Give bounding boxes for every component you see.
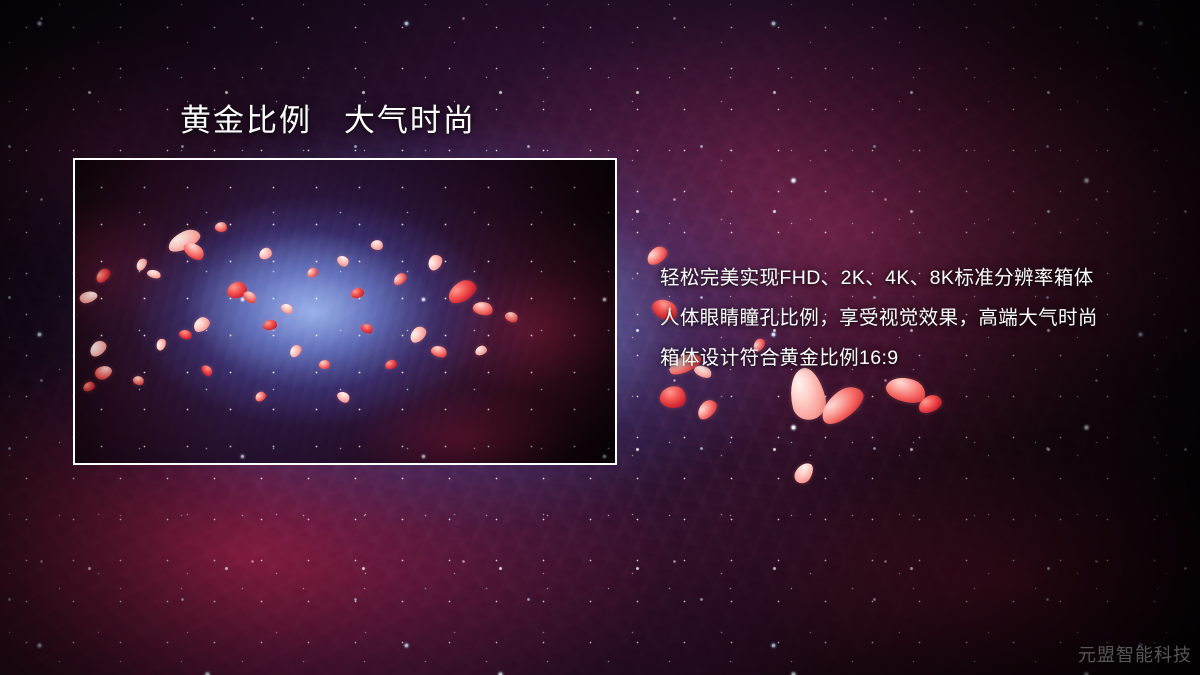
frame-vignette xyxy=(75,160,615,463)
petal xyxy=(815,380,869,429)
petal xyxy=(916,392,944,415)
petal xyxy=(694,397,720,423)
page-title: 黄金比例 大气时尚 xyxy=(180,100,476,142)
petal xyxy=(792,459,817,486)
body-line-1: 轻松完美实现FHD、2K、4K、8K标准分辨率箱体 xyxy=(660,258,1180,298)
presentation-slide: 黄金比例 大气时尚 xyxy=(0,0,1200,675)
body-text-block: 轻松完美实现FHD、2K、4K、8K标准分辨率箱体 人体眼睛瞳孔比例，享受视觉效… xyxy=(660,258,1180,378)
petal xyxy=(658,384,687,410)
body-line-3: 箱体设计符合黄金比例16:9 xyxy=(660,338,1180,378)
body-line-2: 人体眼睛瞳孔比例，享受视觉效果，高端大气时尚 xyxy=(660,298,1180,338)
framed-image-content xyxy=(75,160,615,463)
watermark: 元盟智能科技 xyxy=(1078,641,1192,667)
framed-image-panel xyxy=(73,158,617,465)
